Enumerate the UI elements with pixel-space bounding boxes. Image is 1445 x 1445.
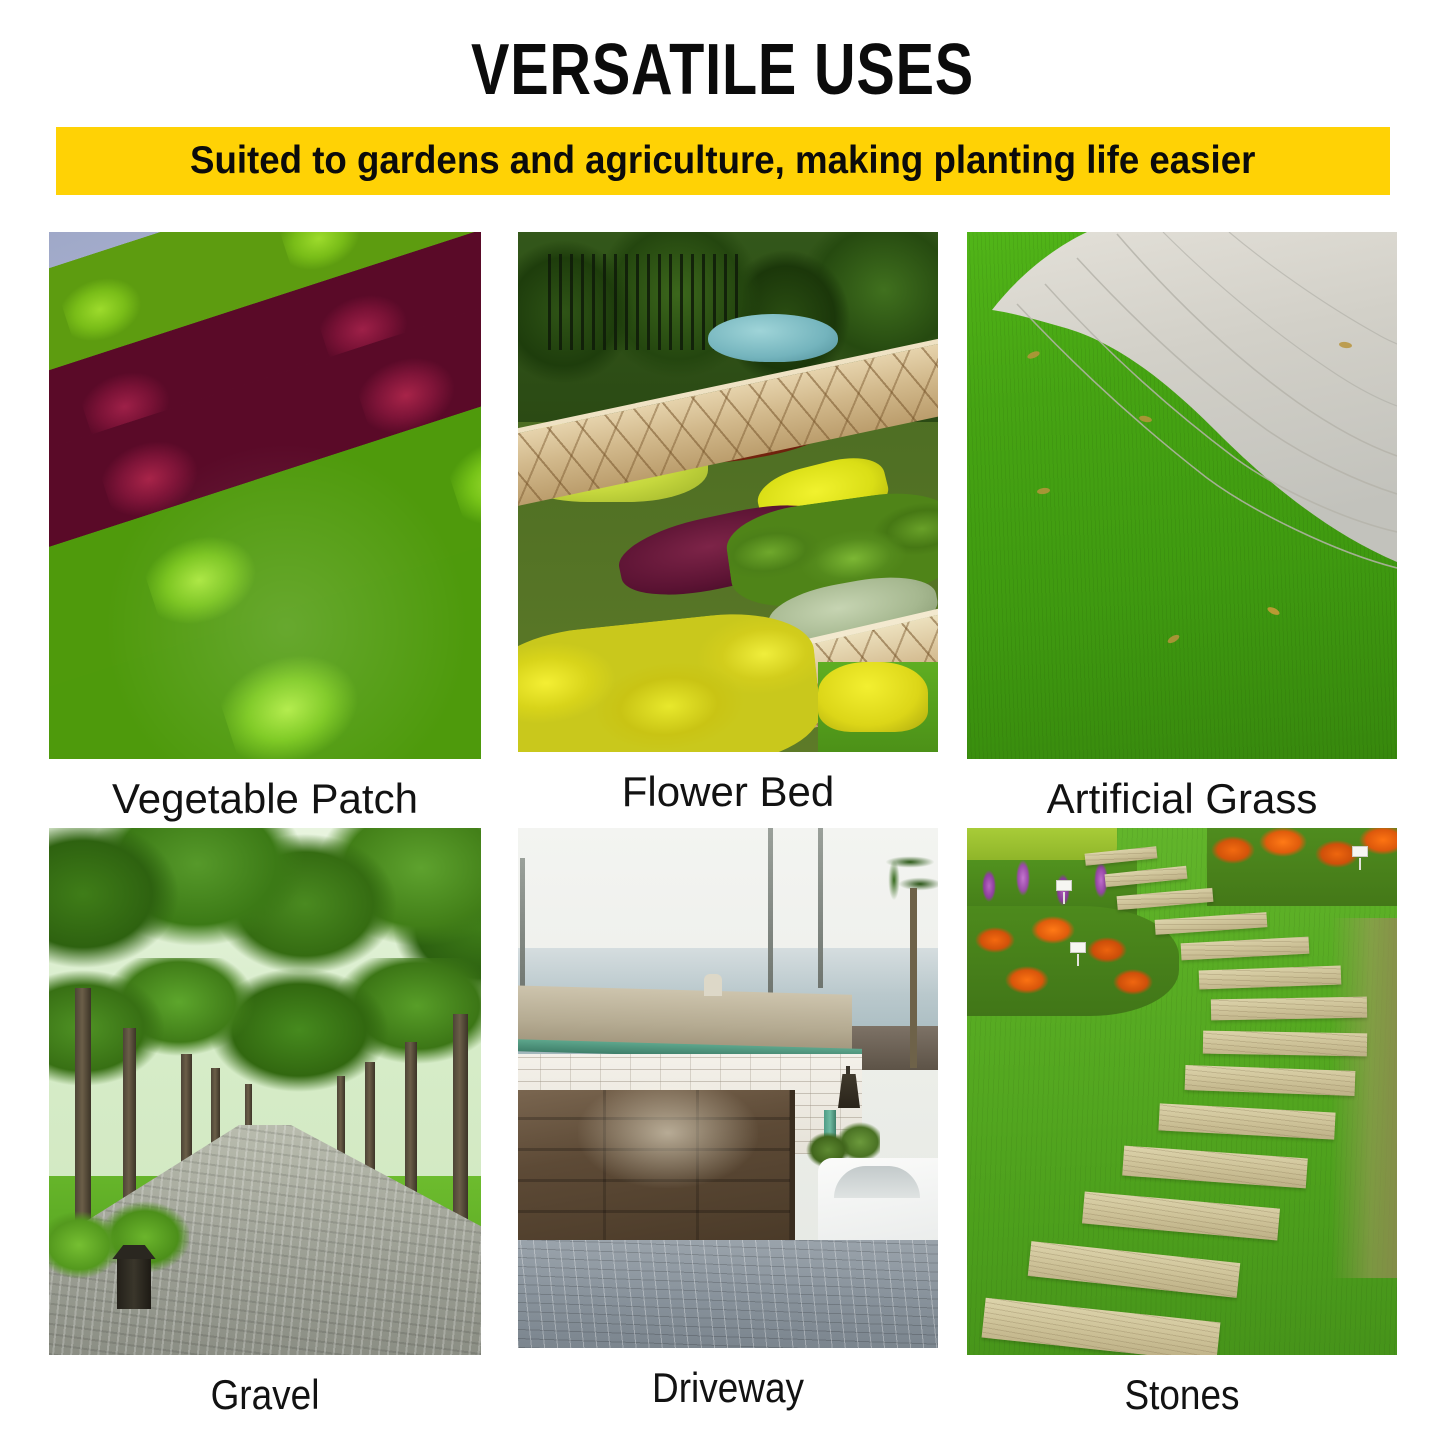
concrete-walkway xyxy=(967,232,1397,759)
palm-trunk xyxy=(910,888,917,1068)
caption-artificial-grass: Artificial Grass xyxy=(967,773,1397,825)
use-case-card-gravel: Gravel xyxy=(49,828,481,1421)
caption-stones: Stones xyxy=(993,1369,1371,1421)
roof-chimney xyxy=(544,954,578,994)
page-title: VERSATILE USES xyxy=(145,30,1301,110)
blue-conifer-shrub xyxy=(708,314,838,362)
stepping-stone xyxy=(1203,1031,1367,1057)
photo-gravel xyxy=(49,828,481,1355)
subtitle-text: Suited to gardens and agriculture, makin… xyxy=(190,139,1255,183)
plant-label xyxy=(1056,880,1072,891)
plant-label-stem xyxy=(1359,858,1361,870)
caption-vegetable-patch: Vegetable Patch xyxy=(49,773,481,825)
yellow-barberry-bush xyxy=(818,662,928,732)
brick-paver-driveway xyxy=(518,1240,938,1348)
sun-glare xyxy=(578,1078,758,1188)
photo-vegetable-patch xyxy=(49,232,481,759)
caption-flower-bed: Flower Bed xyxy=(518,766,938,818)
use-case-card-stones: Stones xyxy=(967,828,1397,1421)
sunlight-highlight xyxy=(49,232,481,759)
use-case-grid: Vegetable Patch Flow xyxy=(49,232,1397,1412)
plant-label xyxy=(1352,846,1368,857)
orange-flower-bed-left xyxy=(967,906,1179,1016)
worn-grass-edge xyxy=(1331,918,1397,1278)
photo-driveway xyxy=(518,828,938,1348)
plant-label-stem xyxy=(1077,954,1079,966)
subtitle-banner: Suited to gardens and agriculture, makin… xyxy=(56,127,1390,195)
photo-artificial-grass xyxy=(967,232,1397,759)
use-case-card-driveway: Driveway xyxy=(518,828,938,1414)
use-case-card-flower-bed: Flower Bed xyxy=(518,232,938,818)
photo-flower-bed xyxy=(518,232,938,752)
plant-label xyxy=(1070,942,1086,953)
litter-bin xyxy=(117,1255,151,1309)
use-case-card-vegetable-patch: Vegetable Patch xyxy=(49,232,481,825)
caption-gravel: Gravel xyxy=(75,1369,455,1421)
orange-flower-bed-upper xyxy=(1207,828,1397,906)
infographic-page: VERSATILE USES Suited to gardens and agr… xyxy=(0,0,1445,1445)
utility-pole xyxy=(768,828,773,996)
roof-vent xyxy=(704,974,722,996)
utility-pole xyxy=(520,858,525,998)
photo-stones xyxy=(967,828,1397,1355)
stepping-stone xyxy=(1211,997,1367,1021)
palm-fronds xyxy=(876,846,938,904)
caption-driveway: Driveway xyxy=(543,1362,913,1414)
plant-label-stem xyxy=(1063,892,1065,904)
use-case-card-artificial-grass: Artificial Grass xyxy=(967,232,1397,825)
utility-pole xyxy=(818,828,823,988)
